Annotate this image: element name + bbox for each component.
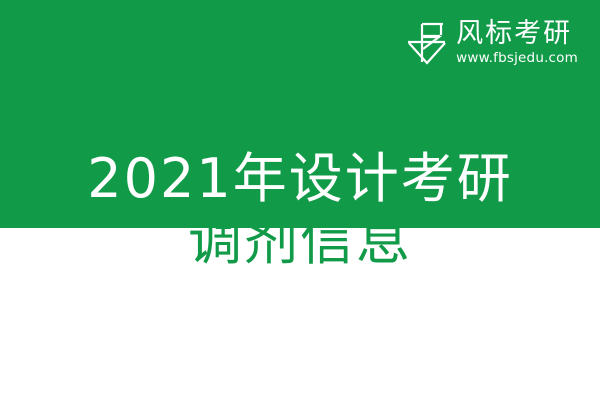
brand-text-block: 风标考研 www.fbsjedu.com xyxy=(456,18,578,66)
fengbiao-monogram-icon xyxy=(407,18,447,66)
brand-website-url: www.fbsjedu.com xyxy=(456,50,578,66)
headline-line-1: 2021年设计考研 xyxy=(0,148,600,210)
headline-line-2: 调剂信息 xyxy=(0,210,600,272)
promo-banner: 风标考研 www.fbsjedu.com 2021年设计考研 调剂信息 xyxy=(0,0,600,400)
headline-block: 2021年设计考研 调剂信息 xyxy=(0,148,600,272)
brand-logo-lockup[interactable]: 风标考研 www.fbsjedu.com xyxy=(407,18,578,66)
brand-name-cn: 风标考研 xyxy=(456,19,572,49)
